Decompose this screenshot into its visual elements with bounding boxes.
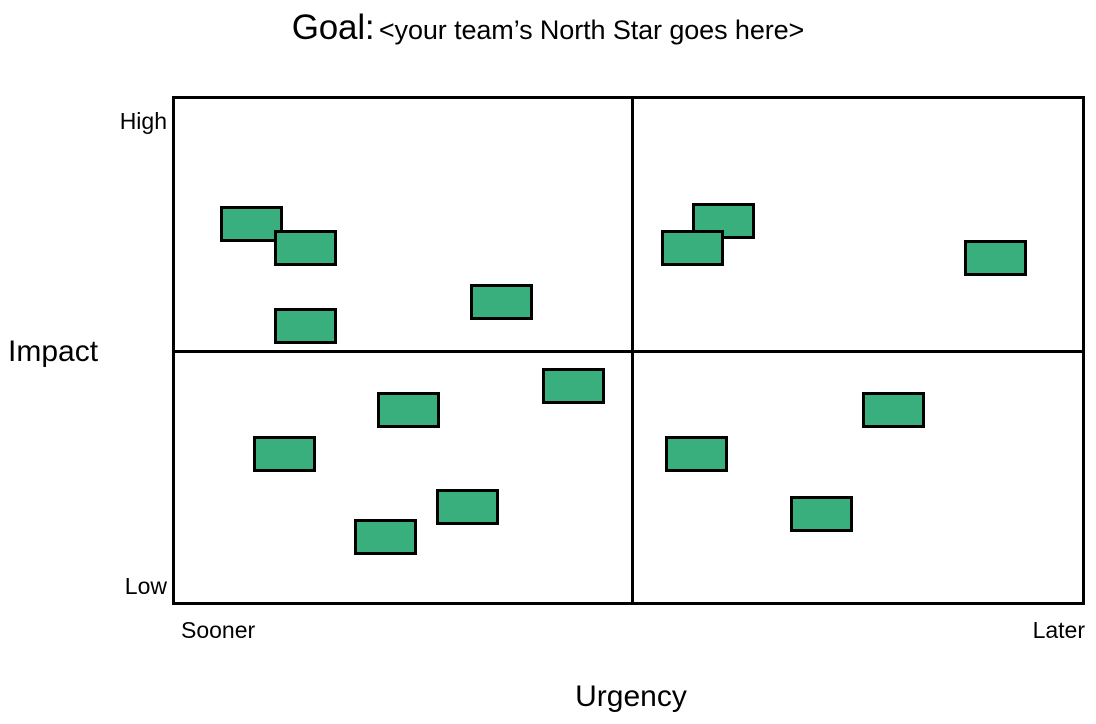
page-title: Goal: <your team’s North Star goes here>: [0, 8, 1096, 48]
impact-urgency-matrix: [172, 96, 1085, 605]
initiative-card[interactable]: [790, 496, 853, 532]
y-axis-tick-high: High: [120, 110, 167, 133]
initiative-card[interactable]: [253, 436, 316, 472]
initiative-card[interactable]: [274, 230, 337, 266]
initiative-card[interactable]: [436, 489, 499, 525]
initiative-card[interactable]: [862, 392, 925, 428]
initiative-card[interactable]: [542, 368, 605, 404]
x-axis-label: Urgency: [0, 682, 1096, 712]
goal-label: Goal:: [292, 8, 375, 47]
initiative-card[interactable]: [377, 392, 440, 428]
x-axis-tick-sooner: Sooner: [181, 619, 255, 642]
x-axis-tick-later: Later: [1033, 619, 1085, 642]
initiative-card[interactable]: [665, 436, 728, 472]
initiative-card[interactable]: [274, 308, 337, 344]
initiative-card[interactable]: [354, 519, 417, 555]
quadrant-divider-horizontal: [175, 350, 1082, 353]
y-axis-tick-low: Low: [125, 575, 167, 598]
initiative-card[interactable]: [964, 240, 1027, 276]
initiative-card[interactable]: [470, 284, 533, 320]
y-axis-label: Impact: [8, 337, 98, 367]
goal-value: <your team’s North Star goes here>: [379, 15, 804, 45]
initiative-card[interactable]: [661, 230, 724, 266]
